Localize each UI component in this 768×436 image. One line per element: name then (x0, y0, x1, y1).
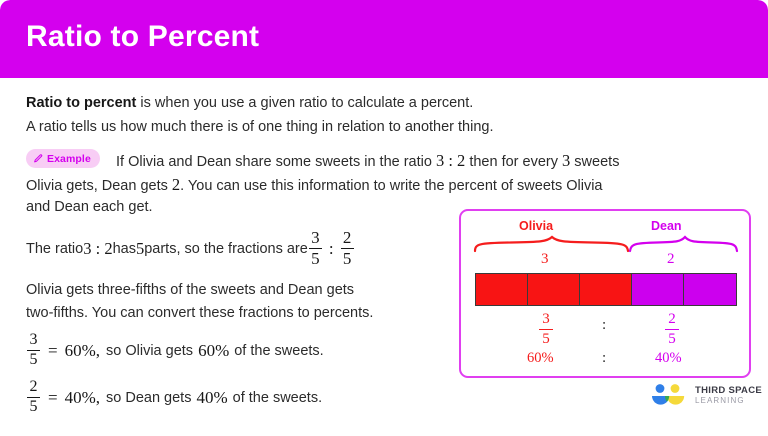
ratio-fraction-olivia: 3 5 (309, 229, 322, 267)
equation-result-percent: 60% (198, 341, 229, 361)
ratio-sentence-part3: parts, so the fractions are (144, 241, 308, 257)
logo-mark-icon (648, 383, 688, 409)
logo-wordmark: THIRD SPACE LEARNING (695, 386, 762, 405)
example-line-1c: sweets (570, 154, 619, 170)
bar-model-strip (475, 273, 737, 306)
example-line-2a: Olivia gets, Dean gets (26, 178, 172, 194)
bar-cell-dean (632, 274, 684, 305)
example-line-1: If Olivia and Dean share some sweets in … (116, 150, 619, 172)
fraction-numerator: 2 (668, 312, 676, 327)
ratio-sentence-part1: The ratio (26, 241, 83, 257)
fraction-bar (539, 329, 553, 330)
example-two: 2 (172, 175, 180, 194)
ratio-fraction-dean: 2 5 (341, 229, 354, 267)
equation-text-before: so Dean gets (106, 390, 191, 406)
fraction-numerator: 3 (309, 229, 322, 246)
brace-group (473, 235, 739, 253)
equation-row-1: 3 5 = 60% , so Olivia gets 60% of the sw… (26, 333, 324, 369)
diagram-fraction-dean: 2 5 (665, 312, 679, 347)
bar-cell-dean (684, 274, 736, 305)
explanation-line-1: Olivia gets three-fifths of the sweets a… (26, 281, 354, 300)
page-header: Ratio to Percent (0, 0, 768, 78)
intro-bold-term: Ratio to percent (26, 95, 136, 111)
fraction-bar (665, 329, 679, 330)
page-title: Ratio to Percent (26, 20, 259, 54)
third-space-learning-logo: THIRD SPACE LEARNING (648, 383, 762, 409)
equation-result-percent: 40% (196, 388, 227, 408)
equation-fraction: 2 5 (27, 379, 40, 415)
pencil-icon (33, 154, 43, 164)
example-line-3: and Dean each get. (26, 198, 153, 217)
fraction-numerator: 2 (341, 229, 354, 246)
equation-comma: , (96, 341, 100, 361)
ratio-sentence-part2: has (113, 241, 136, 257)
intro-line-1-rest: is when you use a given ratio to calcula… (136, 95, 473, 111)
example-line-2b: . You can use this information to write … (180, 178, 602, 194)
fraction-denominator: 5 (309, 250, 322, 267)
diagram-percent-dean: 40% (655, 350, 682, 367)
intro-line-2: A ratio tells us how much there is of on… (26, 118, 494, 137)
equation-text-after: of the sweets. (233, 390, 322, 406)
fraction-numerator: 2 (28, 379, 40, 395)
equation-percent: 40% (65, 388, 96, 408)
fraction-denominator: 5 (28, 399, 40, 415)
count-olivia: 3 (541, 251, 549, 268)
ratio-sentence-parts-count: 5 (136, 239, 144, 259)
brace-olivia (475, 237, 628, 251)
fraction-denominator: 5 (28, 352, 40, 368)
equation-fraction: 3 5 (27, 332, 40, 368)
diagram-fraction-olivia: 3 5 (539, 312, 553, 347)
example-line-2: Olivia gets, Dean gets 2. You can use th… (26, 174, 602, 196)
equation-comma: , (96, 388, 100, 408)
fraction-denominator: 5 (668, 332, 676, 347)
equals-sign: = (48, 341, 58, 361)
example-line-1b: then for every (465, 154, 562, 170)
equation-percent: 60% (65, 341, 96, 361)
fraction-denominator: 5 (542, 332, 550, 347)
bar-model-diagram: Olivia Dean 3 2 3 5 : 2 5 60 (459, 209, 751, 378)
equation-text-after: of the sweets. (234, 343, 323, 359)
explanation-line-2: two-fifths. You can convert these fracti… (26, 304, 373, 323)
diagram-fraction-separator: : (602, 317, 606, 334)
brace-label-olivia: Olivia (519, 219, 553, 233)
logo-line-2: LEARNING (695, 397, 762, 406)
fraction-numerator: 3 (542, 312, 550, 327)
ratio-fraction-separator: : (329, 239, 334, 259)
brace-label-dean: Dean (651, 219, 682, 233)
example-badge-label: Example (47, 153, 91, 165)
bar-cell-olivia (580, 274, 632, 305)
fraction-denominator: 5 (341, 250, 354, 267)
worksheet-page: Ratio to Percent Ratio to percent is whe… (0, 0, 768, 436)
brace-dean (630, 237, 737, 251)
ratio-sentence: The ratio 3 : 2 has 5 parts, so the frac… (26, 230, 355, 268)
example-badge: Example (26, 149, 100, 168)
example-line-1a: If Olivia and Dean share some sweets in … (116, 154, 436, 170)
equation-row-2: 2 5 = 40% , so Dean gets 40% of the swee… (26, 380, 322, 416)
diagram-percent-olivia: 60% (527, 350, 554, 367)
bar-cell-olivia (528, 274, 580, 305)
equation-text-before: so Olivia gets (106, 343, 193, 359)
diagram-percent-separator: : (602, 350, 606, 367)
bar-cell-olivia (476, 274, 528, 305)
example-ratio: 3 : 2 (436, 151, 465, 170)
fraction-numerator: 3 (28, 332, 40, 348)
intro-line-1: Ratio to percent is when you use a given… (26, 94, 473, 113)
ratio-sentence-ratio: 3 : 2 (83, 239, 112, 259)
equals-sign: = (48, 388, 58, 408)
count-dean: 2 (667, 251, 675, 268)
